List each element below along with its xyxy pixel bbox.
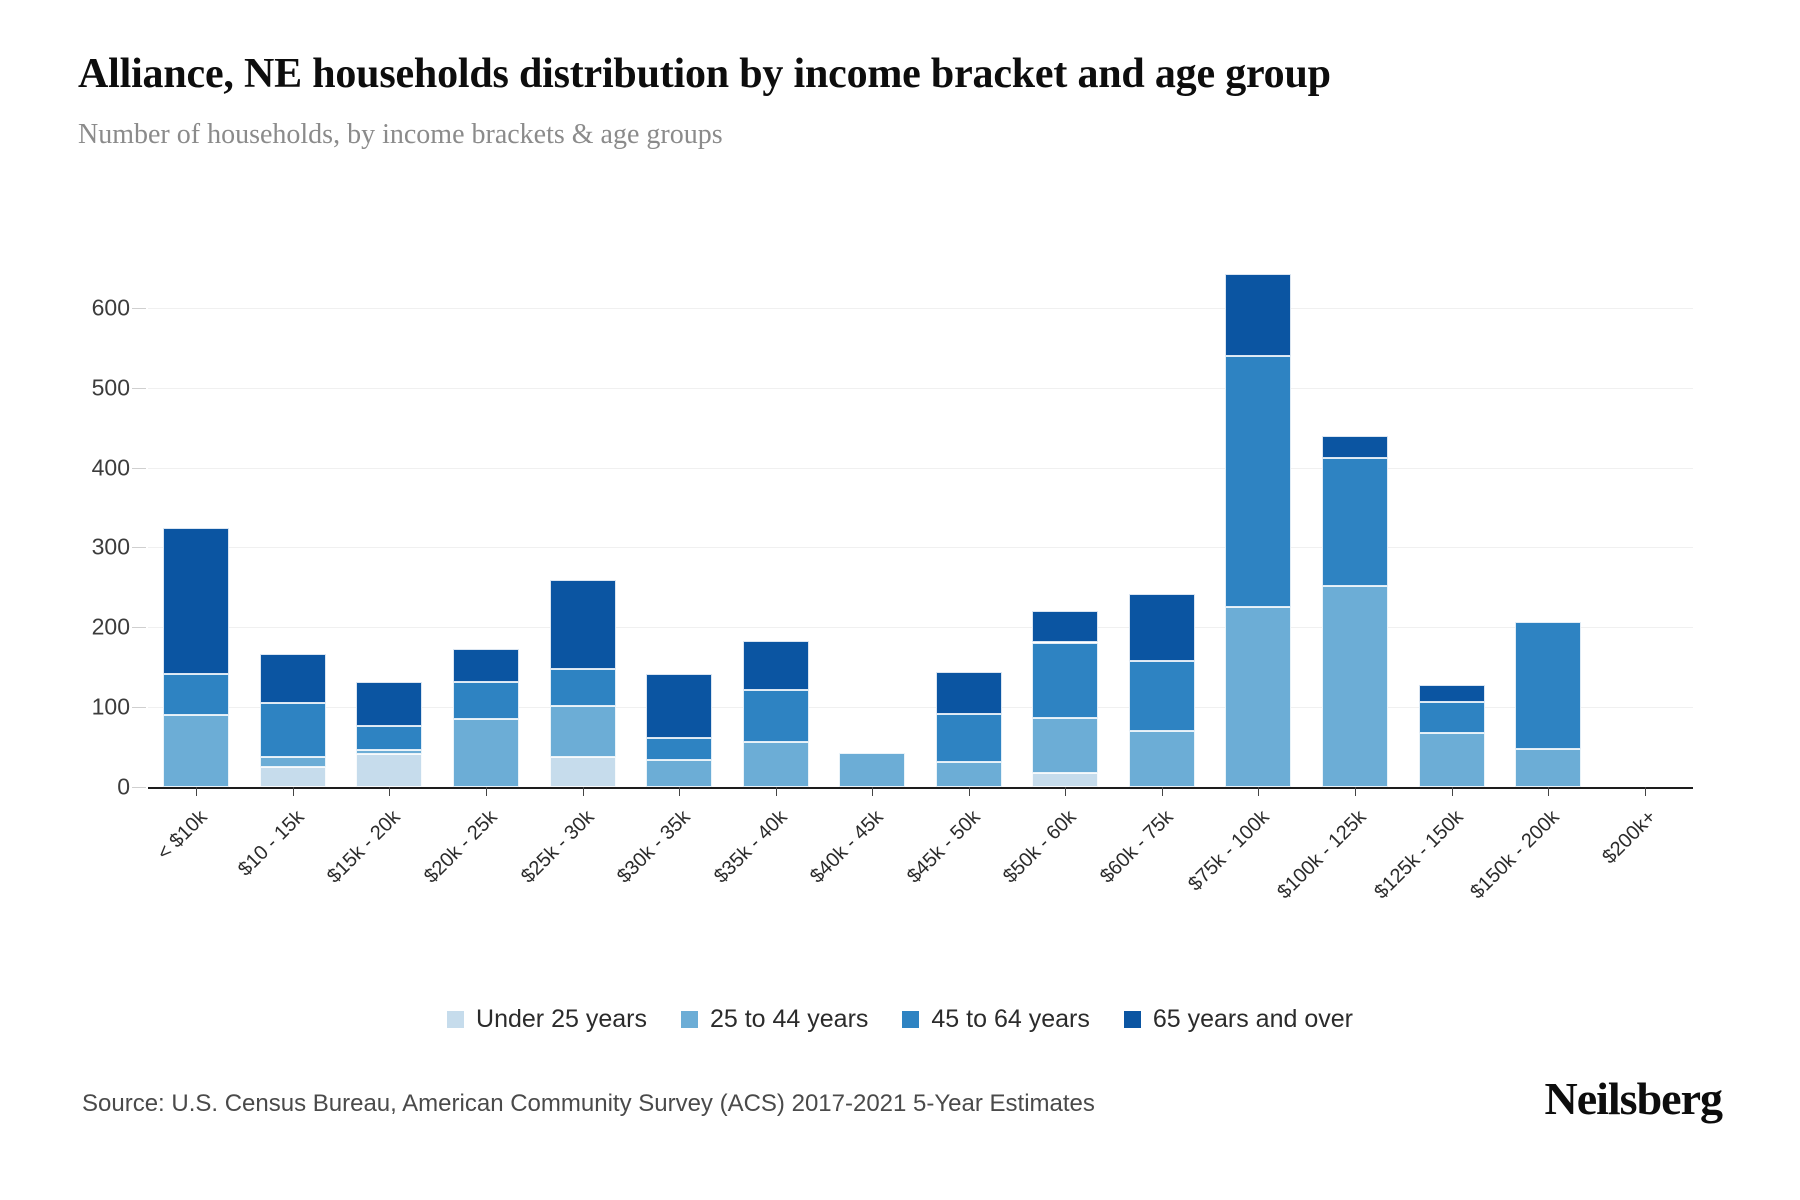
x-tick-mark: [1452, 787, 1453, 796]
bar-segment[interactable]: [453, 649, 519, 683]
bar-group[interactable]: [438, 260, 535, 787]
y-tick-label: 0: [117, 774, 130, 801]
x-tick-mark: [1548, 787, 1549, 796]
bar-segment[interactable]: [356, 754, 422, 787]
bar-segment[interactable]: [260, 767, 326, 787]
bar-segment[interactable]: [1032, 643, 1098, 719]
x-axis-line: [148, 787, 1693, 789]
bar-group[interactable]: [824, 260, 921, 787]
x-tick-mark: [1258, 787, 1259, 796]
x-tick-mark: [1355, 787, 1356, 796]
bar-group[interactable]: [245, 260, 342, 787]
legend-label: Under 25 years: [476, 1005, 647, 1034]
bar-segment[interactable]: [1419, 702, 1485, 733]
x-tick-mark: [389, 787, 390, 796]
y-axis-tick-labels: 0100200300400500600: [0, 260, 130, 787]
bar-group[interactable]: [148, 260, 245, 787]
y-tick-label: 500: [92, 374, 130, 401]
bar-segment[interactable]: [1322, 458, 1388, 586]
bar-segment[interactable]: [839, 753, 905, 787]
legend-label: 25 to 44 years: [710, 1005, 868, 1034]
bar-group[interactable]: [631, 260, 728, 787]
legend-item[interactable]: Under 25 years: [447, 1005, 647, 1034]
bar-segment[interactable]: [936, 762, 1002, 787]
chart-title: Alliance, NE households distribution by …: [78, 48, 1408, 101]
bar-segment[interactable]: [646, 674, 712, 737]
brand-logo: Neilsberg: [1544, 1072, 1722, 1125]
x-tick-label: $200k+: [1433, 806, 1661, 1034]
y-tick-label: 400: [92, 454, 130, 481]
x-tick-mark: [776, 787, 777, 796]
bar-segment[interactable]: [1129, 594, 1195, 661]
x-tick-mark: [293, 787, 294, 796]
legend-swatch: [902, 1011, 919, 1028]
bar-segment[interactable]: [453, 719, 519, 787]
x-tick-mark: [1162, 787, 1163, 796]
y-tick-mark: [132, 388, 146, 389]
x-tick-mark: [1065, 787, 1066, 796]
legend-item[interactable]: 25 to 44 years: [681, 1005, 868, 1034]
x-tick-mark: [1645, 787, 1646, 796]
bar-segment[interactable]: [1515, 749, 1581, 787]
y-tick-label: 200: [92, 614, 130, 641]
x-tick-mark: [872, 787, 873, 796]
y-tick-mark: [132, 308, 146, 309]
y-tick-mark: [132, 627, 146, 628]
bar-group[interactable]: [341, 260, 438, 787]
y-tick-mark: [132, 468, 146, 469]
bar-segment[interactable]: [550, 706, 616, 757]
y-tick-label: 100: [92, 694, 130, 721]
bar-segment[interactable]: [260, 654, 326, 703]
bar-segment[interactable]: [743, 641, 809, 690]
chart-subtitle: Number of households, by income brackets…: [78, 119, 1638, 151]
bar-segment[interactable]: [550, 580, 616, 669]
bar-group[interactable]: [1403, 260, 1500, 787]
y-tick-label: 300: [92, 534, 130, 561]
x-tick-mark: [583, 787, 584, 796]
bar-segment[interactable]: [1225, 274, 1291, 355]
bar-group[interactable]: [1307, 260, 1404, 787]
bar-segment[interactable]: [1225, 607, 1291, 787]
bar-segment[interactable]: [260, 757, 326, 767]
bar-segment[interactable]: [453, 682, 519, 719]
bar-segment[interactable]: [743, 742, 809, 788]
chart-legend: Under 25 years25 to 44 years45 to 64 yea…: [0, 1005, 1800, 1034]
bar-segment[interactable]: [550, 669, 616, 707]
bar-segment[interactable]: [646, 738, 712, 760]
x-tick-mark: [196, 787, 197, 796]
bar-segment[interactable]: [356, 750, 422, 754]
bar-segment[interactable]: [936, 672, 1002, 714]
bar-segment[interactable]: [1322, 586, 1388, 787]
y-tick-mark: [132, 787, 146, 788]
bar-series-group: [148, 260, 1693, 787]
legend-label: 45 to 64 years: [931, 1005, 1089, 1034]
legend-label: 65 years and over: [1153, 1005, 1353, 1034]
y-tick-mark: [132, 547, 146, 548]
bar-group[interactable]: [1596, 260, 1693, 787]
bar-segment[interactable]: [356, 682, 422, 727]
bar-segment[interactable]: [1419, 685, 1485, 702]
bar-segment[interactable]: [1225, 356, 1291, 608]
legend-item[interactable]: 65 years and over: [1124, 1005, 1353, 1034]
source-note: Source: U.S. Census Bureau, American Com…: [82, 1090, 1095, 1118]
bar-segment[interactable]: [260, 703, 326, 756]
bar-segment[interactable]: [356, 726, 422, 750]
x-tick-mark: [486, 787, 487, 796]
bar-group[interactable]: [1500, 260, 1597, 787]
bar-segment[interactable]: [1515, 622, 1581, 750]
bar-segment[interactable]: [936, 714, 1002, 763]
bar-segment[interactable]: [646, 760, 712, 787]
bar-segment[interactable]: [163, 528, 229, 674]
bar-group[interactable]: [727, 260, 824, 787]
bar-segment[interactable]: [1032, 718, 1098, 772]
legend-swatch: [1124, 1011, 1141, 1028]
bar-segment[interactable]: [1032, 611, 1098, 642]
bar-segment[interactable]: [550, 757, 616, 787]
bar-segment[interactable]: [1419, 733, 1485, 787]
x-tick-mark: [969, 787, 970, 796]
bar-group[interactable]: [1114, 260, 1211, 787]
bar-segment[interactable]: [1322, 436, 1388, 458]
chart-footer: Source: U.S. Census Bureau, American Com…: [0, 1090, 1800, 1160]
legend-swatch: [681, 1011, 698, 1028]
bar-segment[interactable]: [1129, 731, 1195, 787]
bar-segment[interactable]: [163, 715, 229, 787]
legend-item[interactable]: 45 to 64 years: [902, 1005, 1089, 1034]
y-tick-mark: [132, 707, 146, 708]
bar-segment[interactable]: [743, 690, 809, 742]
bar-segment[interactable]: [1032, 773, 1098, 787]
bar-group[interactable]: [1017, 260, 1114, 787]
bar-group[interactable]: [534, 260, 631, 787]
y-tick-label: 600: [92, 294, 130, 321]
legend-swatch: [447, 1011, 464, 1028]
chart-header: Alliance, NE households distribution by …: [78, 48, 1638, 151]
chart-plot-area: 0100200300400500600 < $10k$10 - 15k$15k …: [0, 250, 1800, 910]
bar-group[interactable]: [921, 260, 1018, 787]
bar-group[interactable]: [1210, 260, 1307, 787]
bar-segment[interactable]: [1129, 661, 1195, 731]
x-tick-mark: [679, 787, 680, 796]
bar-segment[interactable]: [163, 674, 229, 715]
